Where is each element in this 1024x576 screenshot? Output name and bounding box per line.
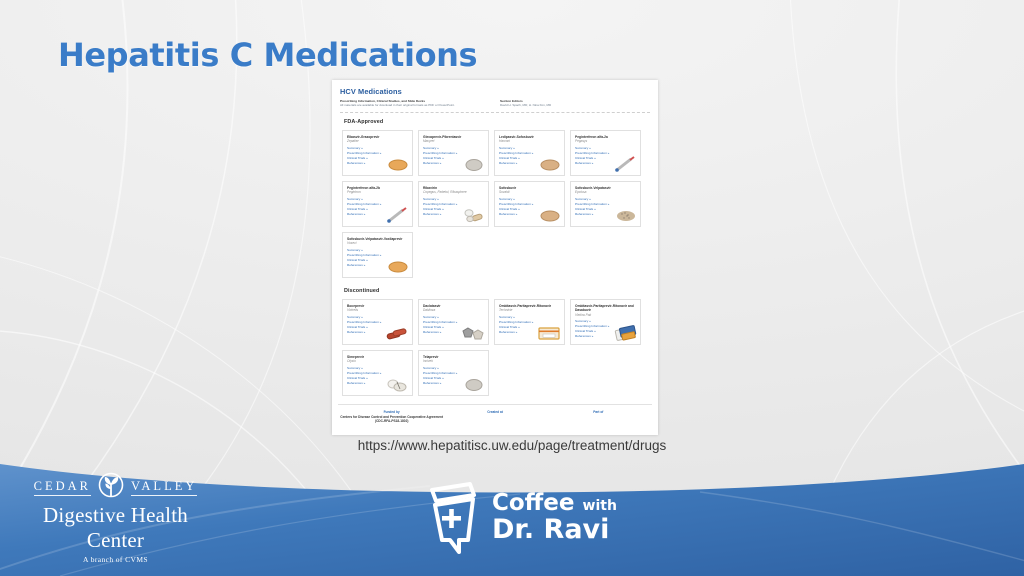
logo-sub-text: A branch of CVMS: [18, 555, 213, 564]
coffee-logo-line2: Dr. Ravi: [492, 516, 617, 544]
medication-card[interactable]: Peginterferon alfa-2bPegintronSummary »P…: [342, 181, 413, 227]
medication-image: [461, 376, 485, 392]
medication-card[interactable]: DaclatasvirDaklinzaSummary »Prescribing …: [418, 299, 489, 345]
medication-brand-name: Pegasys: [575, 140, 636, 144]
cedar-valley-logo: CEDAR VALLEY Digestive Health Center A b…: [18, 472, 213, 564]
page-title: Hepatitis C Medications: [58, 36, 477, 74]
medication-generic-name: Ledipasvir-Sofosbuvir: [499, 135, 560, 139]
medication-generic-name: Simeprevir: [347, 355, 408, 359]
medication-generic-name: Sofosbuvir-Velpatasvir: [575, 186, 636, 190]
divider: [340, 112, 650, 113]
medication-card[interactable]: Ledipasvir-SofosbuvirHarvoniSummary »Pre…: [494, 130, 565, 176]
medication-brand-name: Mavyret: [423, 140, 484, 144]
medication-brand-name: Victrelis: [347, 309, 408, 313]
medication-generic-name: Sofosbuvir: [499, 186, 560, 190]
medication-generic-name: Elbasvir-Grazoprevir: [347, 135, 408, 139]
medication-card[interactable]: Elbasvir-GrazoprevirZepatierSummary »Pre…: [342, 130, 413, 176]
document-footer: Funded byCenters for Disease Control and…: [332, 410, 658, 430]
medication-generic-name: Daclatasvir: [423, 304, 484, 308]
medication-generic-name: Ombitasvir-Paritaprevir-Ritonavir: [499, 304, 560, 308]
medication-generic-name: Ombitasvir-Paritaprevir-Ritonavir and Da…: [575, 304, 636, 312]
medication-image: [537, 156, 561, 172]
medication-brand-name: Harvoni: [499, 140, 560, 144]
medication-card[interactable]: TelaprevirIncivekSummary »Prescribing In…: [418, 350, 489, 396]
footer-column: Created at: [443, 410, 546, 424]
medication-image: [385, 258, 409, 274]
medication-card[interactable]: Sofosbuvir-VelpatasvirEpclusaSummary »Pr…: [570, 181, 641, 227]
medication-brand-name: Copegus, Rebetol, Ribasphere: [423, 191, 484, 195]
medication-generic-name: Telaprevir: [423, 355, 484, 359]
medication-card[interactable]: Peginterferon alfa-2aPegasysSummary »Pre…: [570, 130, 641, 176]
medication-brand-name: Epclusa: [575, 191, 636, 195]
medication-image: [385, 325, 409, 341]
medication-card[interactable]: Ombitasvir-Paritaprevir-RitonavirTechniv…: [494, 299, 565, 345]
medication-brand-name: Pegintron: [347, 191, 408, 195]
medication-card[interactable]: BoceprevirVictrelisSummary »Prescribing …: [342, 299, 413, 345]
logo-word-cedar: CEDAR: [34, 479, 91, 496]
medication-brand-name: Vosevi: [347, 242, 408, 246]
meta-left-body: All materials are available for download…: [340, 103, 490, 107]
medication-generic-name: Peginterferon alfa-2a: [575, 135, 636, 139]
medication-brand-name: Daklinza: [423, 309, 484, 313]
meta-left: Prescribing Information, Clinical Studie…: [340, 99, 490, 108]
medication-image: [461, 156, 485, 172]
embedded-webpage-screenshot: HCV Medications Prescribing Information,…: [332, 80, 658, 435]
medication-image: [537, 207, 561, 223]
medication-image: [385, 376, 409, 392]
medication-card-grid: BoceprevirVictrelisSummary »Prescribing …: [342, 299, 648, 396]
coffee-with-dr-ravi-logo: Coffee with Dr. Ravi: [418, 478, 617, 558]
meta-right-body: David H. Spach, MD; H. Nina Kim, MD: [500, 103, 650, 107]
medication-card-grid: Elbasvir-GrazoprevirZepatierSummary »Pre…: [342, 130, 648, 278]
document-meta: Prescribing Information, Clinical Studie…: [340, 99, 650, 108]
medication-generic-name: Boceprevir: [347, 304, 408, 308]
coffee-logo-with: with: [583, 498, 617, 514]
medication-generic-name: Glecaprevir-Pibrentasvir: [423, 135, 484, 139]
section-heading: Discontinued: [344, 288, 650, 294]
medication-image: [385, 156, 409, 172]
footer-column: Part of: [547, 410, 650, 424]
coffee-cup-icon: [418, 478, 482, 558]
medication-generic-name: Ribavirin: [423, 186, 484, 190]
medication-generic-name: Sofosbuvir-Velpatasvir-Voxilaprevir: [347, 237, 408, 241]
medication-brand-name: Olysio: [347, 360, 408, 364]
medication-card[interactable]: Sofosbuvir-Velpatasvir-VoxilaprevirVosev…: [342, 232, 413, 278]
footer-column: Funded byCenters for Disease Control and…: [340, 410, 443, 424]
medication-image: [613, 325, 637, 341]
medication-brand-name: Zepatier: [347, 140, 408, 144]
medication-image: [537, 325, 561, 341]
medication-card[interactable]: Glecaprevir-PibrentasvirMavyretSummary »…: [418, 130, 489, 176]
logo-word-valley: VALLEY: [131, 479, 197, 496]
slide: Hepatitis C Medications HCV Medications …: [0, 0, 1024, 576]
meta-right: Section Editors David H. Spach, MD; H. N…: [500, 99, 650, 108]
footer-divider: [338, 404, 652, 405]
tree-emblem-icon: [94, 472, 128, 502]
coffee-logo-line1: Coffee: [492, 490, 575, 516]
footer-heading: Part of: [547, 410, 650, 415]
medication-image: [613, 207, 637, 223]
footer-heading: Created at: [443, 410, 546, 415]
document-title: HCV Medications: [340, 87, 650, 96]
logo-main-text: Digestive Health Center: [18, 503, 213, 553]
medication-card[interactable]: Ombitasvir-Paritaprevir-Ritonavir and Da…: [570, 299, 641, 345]
section-heading: FDA-Approved: [344, 119, 650, 125]
medication-sections: FDA-ApprovedElbasvir-GrazoprevirZepatier…: [340, 119, 650, 396]
medication-image: [385, 207, 409, 223]
footer-body: Centers for Disease Control and Preventi…: [340, 415, 443, 424]
medication-brand-name: Viekira Pak: [575, 314, 636, 318]
medication-card[interactable]: RibavirinCopegus, Rebetol, RibasphereSum…: [418, 181, 489, 227]
medication-brand-name: Technivie: [499, 309, 560, 313]
medication-image: [461, 325, 485, 341]
medication-brand-name: Incivek: [423, 360, 484, 364]
medication-card[interactable]: SofosbuvirSovaldiSummary »Prescribing In…: [494, 181, 565, 227]
medication-generic-name: Peginterferon alfa-2b: [347, 186, 408, 190]
medication-card[interactable]: SimeprevirOlysioSummary »Prescribing Inf…: [342, 350, 413, 396]
medication-image: [461, 207, 485, 223]
medication-brand-name: Sovaldi: [499, 191, 560, 195]
medication-image: [613, 156, 637, 172]
